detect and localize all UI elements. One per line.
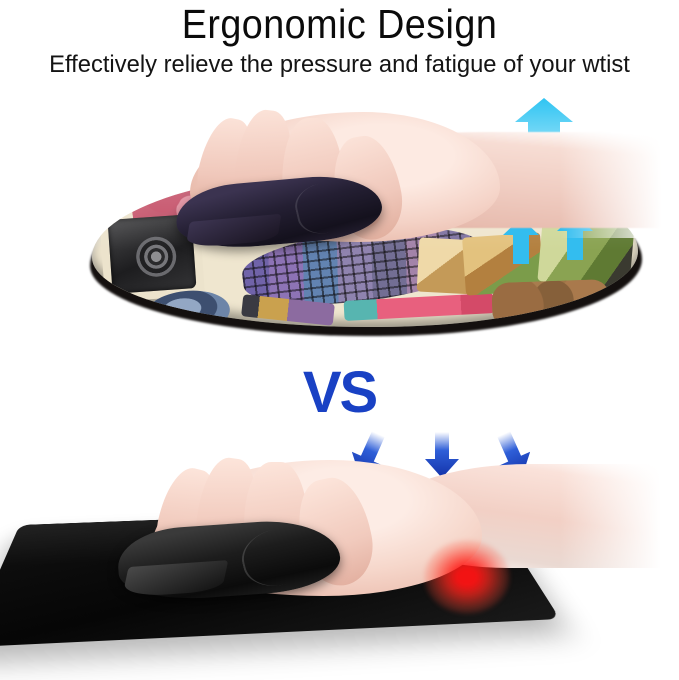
versus-label: VS bbox=[0, 362, 679, 424]
arm-fade-mask bbox=[560, 128, 679, 238]
mouse-button-seam bbox=[291, 174, 372, 239]
page-title: Ergonomic Design bbox=[27, 2, 652, 46]
wrist-pressure-point-indicator bbox=[424, 540, 510, 614]
pad-print-teddy-bear-icon bbox=[491, 279, 611, 327]
arm-fade-mask bbox=[560, 448, 679, 588]
flat-pad-scene bbox=[0, 428, 679, 680]
mouse-button-seam bbox=[236, 519, 327, 593]
page-subtitle: Effectively relieve the pressure and fat… bbox=[10, 51, 669, 79]
ergonomic-pad-scene bbox=[0, 88, 679, 350]
product-feature-image: Ergonomic Design Effectively relieve the… bbox=[0, 0, 679, 680]
